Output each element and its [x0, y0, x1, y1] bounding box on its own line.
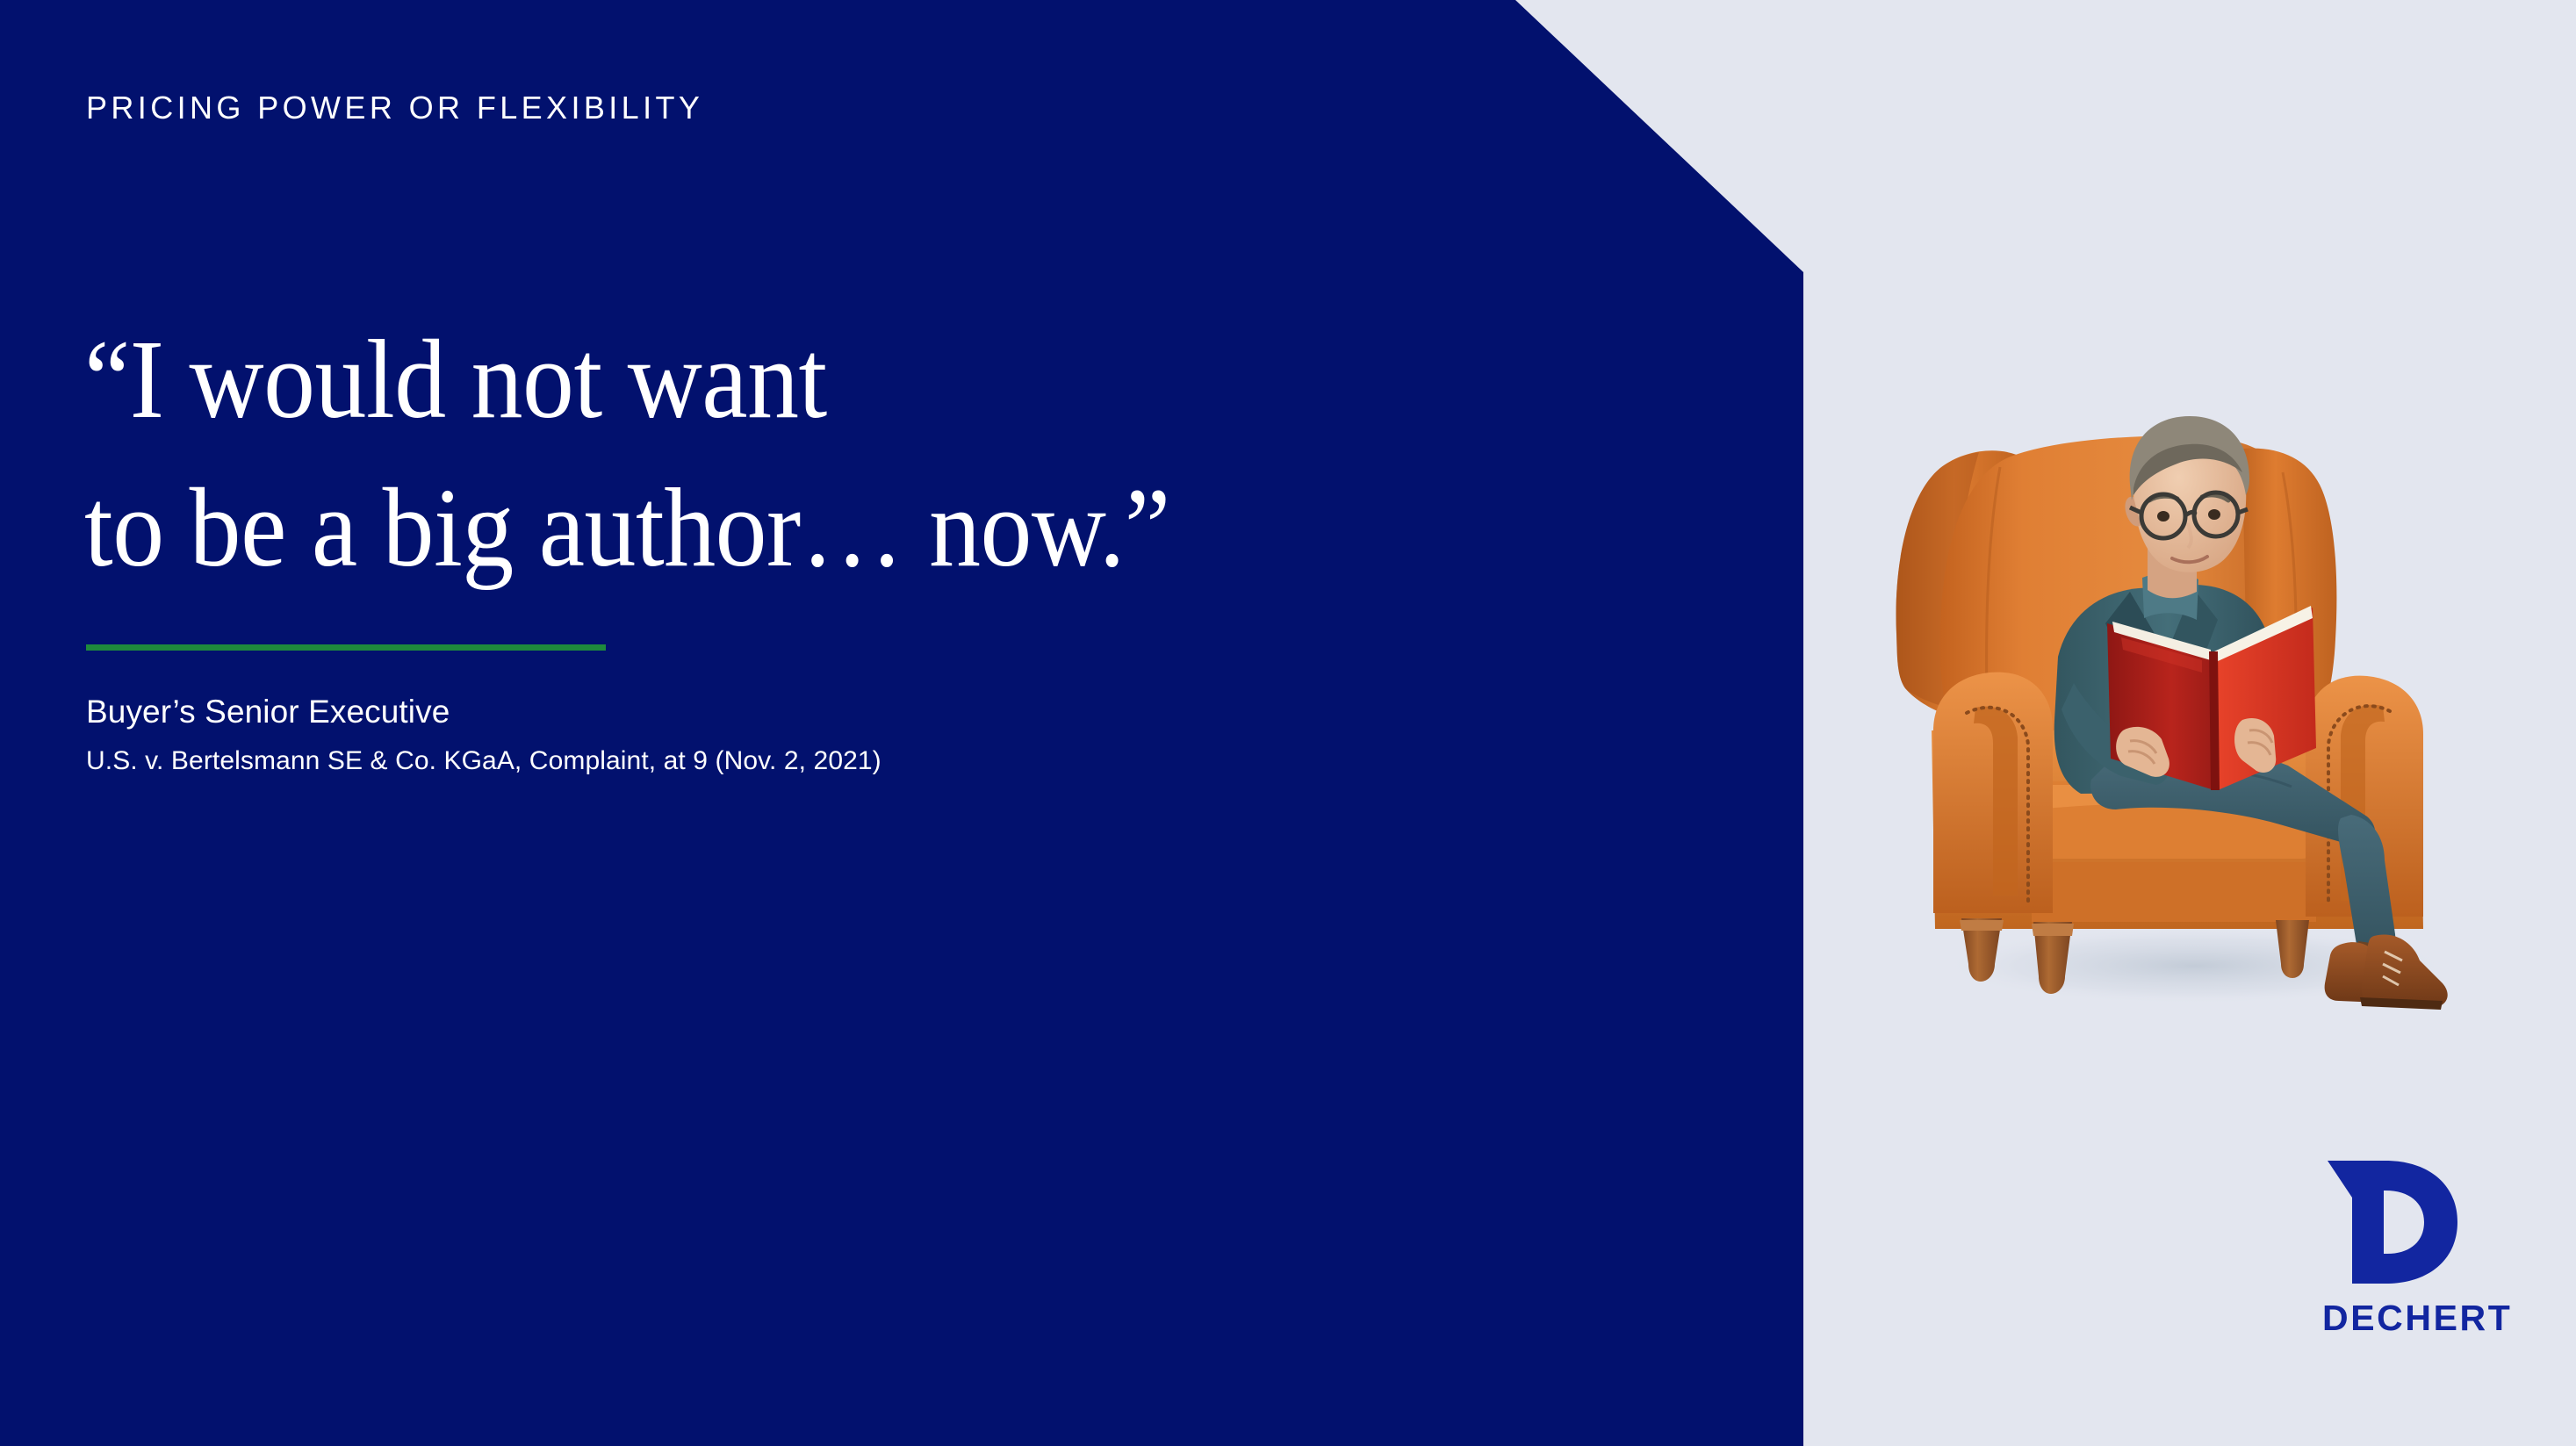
dechert-d-mark	[2322, 1157, 2463, 1287]
man-reading-book-in-armchair-illustration	[1870, 404, 2537, 1018]
green-accent-rule	[86, 644, 606, 651]
chair-leg-front-left-collar	[1960, 920, 2004, 931]
book-spine	[2209, 651, 2220, 790]
person-eye-left	[2157, 511, 2169, 522]
attribution-speaker: Buyer’s Senior Executive	[86, 694, 450, 730]
slide-kicker: PRICING POWER OR FLEXIBILITY	[86, 90, 703, 126]
slide-canvas: PRICING POWER OR FLEXIBILITY “I would no…	[0, 0, 2576, 1446]
attribution-citation: U.S. v. Bertelsmann SE & Co. KGaA, Compl…	[86, 746, 881, 776]
quote-line-1: “I would not want	[84, 306, 1538, 454]
quote-line-2: to be a big author… now.”	[84, 454, 1538, 602]
dechert-wordmark: DECHERT	[2322, 1298, 2524, 1339]
chair-leg-mid-collar	[2032, 924, 2074, 936]
pull-quote: “I would not want to be a big author… no…	[84, 306, 1538, 602]
person-eye-right	[2208, 509, 2220, 520]
chair-front-apron	[2032, 862, 2316, 922]
dechert-logo: DECHERT	[2322, 1157, 2524, 1342]
